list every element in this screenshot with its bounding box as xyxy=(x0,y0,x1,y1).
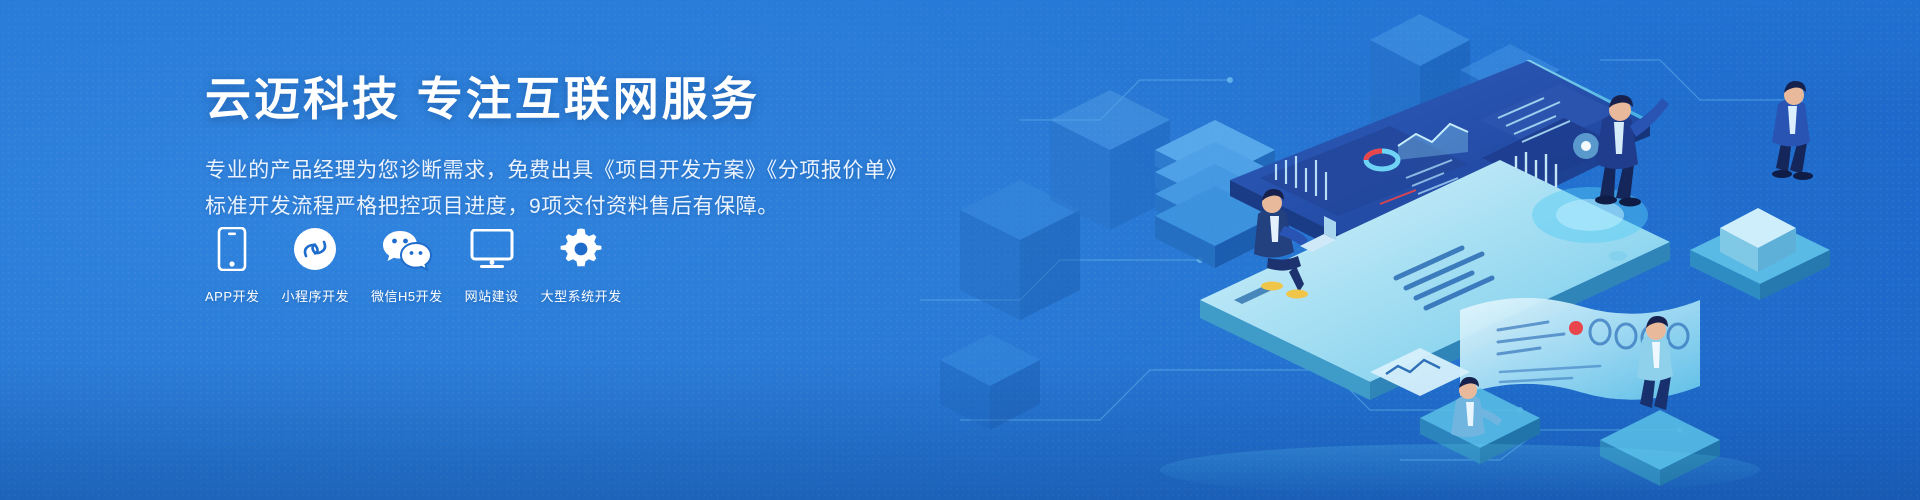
side-platform xyxy=(1690,208,1830,300)
hero-illustration xyxy=(900,0,1920,500)
service-item-wechat-h5[interactable]: 微信H5开发 xyxy=(371,226,443,305)
hero-subtitle: 专业的产品经理为您诊断需求，免费出具《项目开发方案》《分项报价单》 标准开发流程… xyxy=(205,153,925,225)
figure-glow xyxy=(1532,187,1648,243)
wechat-icon xyxy=(381,226,433,272)
service-item-app[interactable]: APP开发 xyxy=(205,226,260,305)
service-item-large-system[interactable]: 大型系统开发 xyxy=(541,226,622,305)
service-label: 微信H5开发 xyxy=(371,286,443,305)
monitor-icon xyxy=(470,226,514,272)
service-label: APP开发 xyxy=(205,286,260,305)
page-title: 云迈科技 专注互联网服务 xyxy=(205,72,925,127)
mobile-phone-icon xyxy=(217,226,247,272)
service-item-website[interactable]: 网站建设 xyxy=(465,226,519,305)
subtitle-line-2: 标准开发流程严格把控项目进度，9项交付资料售后有保障。 xyxy=(205,189,925,225)
service-label: 网站建设 xyxy=(465,286,519,305)
service-label: 小程序开发 xyxy=(282,286,350,305)
subtitle-line-1: 专业的产品经理为您诊断需求，免费出具《项目开发方案》《分项报价单》 xyxy=(205,153,925,189)
mini-program-icon xyxy=(293,226,337,272)
walking-figure xyxy=(1772,81,1813,180)
hero-banner: 云迈科技 专注互联网服务 专业的产品经理为您诊断需求，免费出具《项目开发方案》《… xyxy=(0,0,1920,500)
service-list: APP开发 小程序开发 xyxy=(205,226,622,305)
service-item-miniprogram[interactable]: 小程序开发 xyxy=(282,226,350,305)
gear-icon xyxy=(559,226,603,272)
service-label: 大型系统开发 xyxy=(541,286,622,305)
hero-copy: 云迈科技 专注互联网服务 专业的产品经理为您诊断需求，免费出具《项目开发方案》《… xyxy=(205,72,925,225)
